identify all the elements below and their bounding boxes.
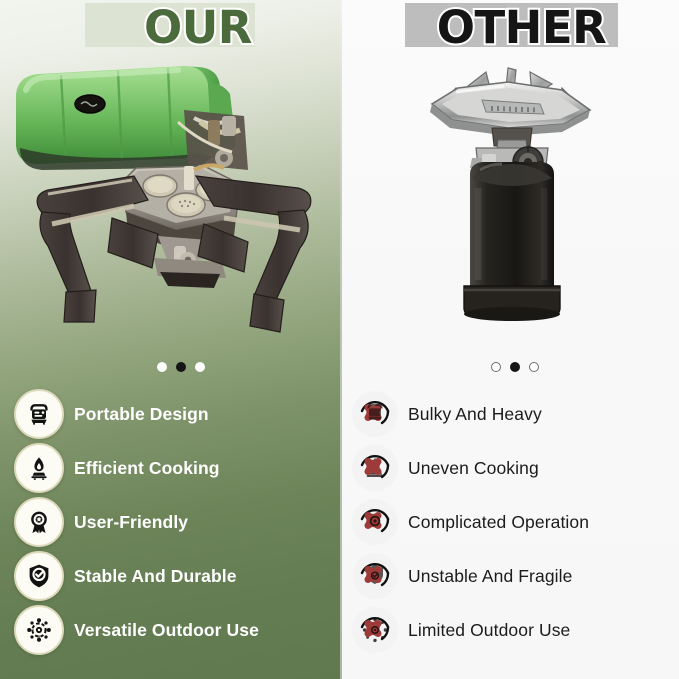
feature-item-uneven-cooking: Uneven Cooking <box>340 441 679 495</box>
other-heading: OTHER <box>340 0 679 56</box>
carousel-dot-active[interactable] <box>176 362 186 372</box>
feature-item-stable-and-durable: Stable And Durable <box>0 549 340 603</box>
carousel-dot-active[interactable] <box>510 362 520 372</box>
black-propane-bottle-top-stove-illustration <box>412 62 612 347</box>
award-ribbon-crossed-icon <box>352 499 398 545</box>
our-product-image <box>0 60 340 355</box>
carousel-dot[interactable] <box>195 362 205 372</box>
carousel-dot[interactable] <box>157 362 167 372</box>
our-heading-wrap: OUR <box>0 0 340 60</box>
shield-check-crossed-icon <box>352 553 398 599</box>
our-carousel-dots[interactable] <box>0 355 340 379</box>
carousel-dot[interactable] <box>491 362 501 372</box>
other-heading-wrap: OTHER <box>340 0 679 60</box>
other-product-image <box>340 60 679 355</box>
feature-label: Portable Design <box>74 404 209 425</box>
portable-stove-icon <box>14 389 64 439</box>
feature-label: Uneven Cooking <box>408 458 539 479</box>
feature-item-efficient-cooking: Efficient Cooking <box>0 441 340 495</box>
our-heading: OUR <box>0 0 340 56</box>
feature-label: Unstable And Fragile <box>408 566 572 587</box>
gear-network-icon <box>14 605 64 655</box>
gear-network-crossed-icon <box>352 607 398 653</box>
comparison-infographic: OUR <box>0 0 679 679</box>
award-ribbon-icon <box>14 497 64 547</box>
carousel-dot[interactable] <box>529 362 539 372</box>
panel-divider <box>340 0 342 679</box>
other-feature-list: Bulky And Heavy <box>340 379 679 657</box>
feature-item-versatile-outdoor-use: Versatile Outdoor Use <box>0 603 340 657</box>
feature-item-complicated-operation: Complicated Operation <box>340 495 679 549</box>
feature-label: Versatile Outdoor Use <box>74 620 259 641</box>
flame-burner-crossed-icon <box>352 445 398 491</box>
feature-label: Bulky And Heavy <box>408 404 542 425</box>
panel-our: OUR <box>0 0 340 679</box>
feature-label: Stable And Durable <box>74 566 237 587</box>
green-portable-camping-stove-illustration <box>8 60 334 350</box>
shield-check-icon <box>14 551 64 601</box>
feature-item-unstable-and-fragile: Unstable And Fragile <box>340 549 679 603</box>
other-carousel-dots[interactable] <box>340 355 679 379</box>
our-feature-list: Portable Design Efficient Cooking <box>0 379 340 657</box>
feature-label: Limited Outdoor Use <box>408 620 570 641</box>
feature-item-portable-design: Portable Design <box>0 387 340 441</box>
flame-burner-icon <box>14 443 64 493</box>
feature-item-user-friendly: User-Friendly <box>0 495 340 549</box>
feature-label: Complicated Operation <box>408 512 589 533</box>
feature-label: Efficient Cooking <box>74 458 220 479</box>
feature-item-limited-outdoor-use: Limited Outdoor Use <box>340 603 679 657</box>
portable-stove-crossed-icon <box>352 391 398 437</box>
panel-other: OTHER <box>340 0 679 679</box>
feature-item-bulky-and-heavy: Bulky And Heavy <box>340 387 679 441</box>
feature-label: User-Friendly <box>74 512 188 533</box>
